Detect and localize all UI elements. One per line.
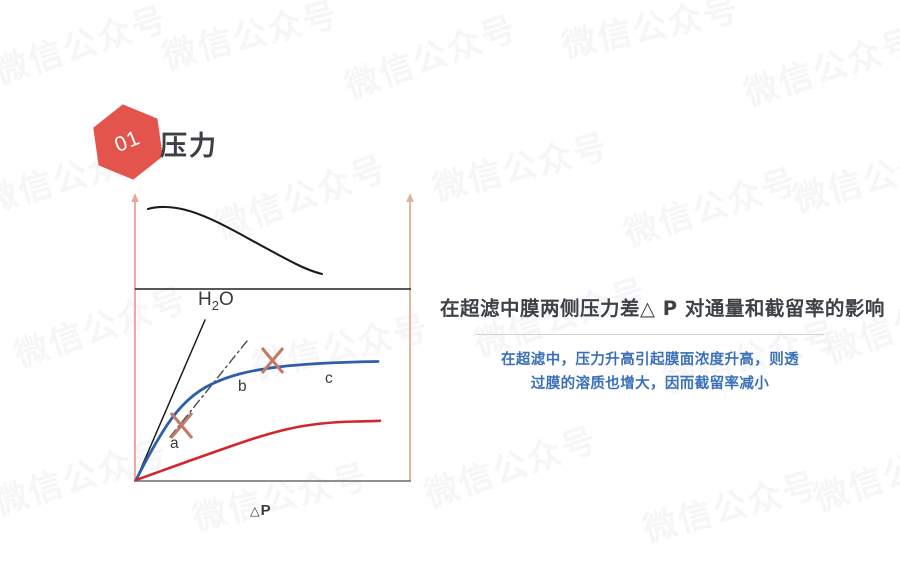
label-b: b: [238, 378, 247, 395]
label-c: c: [325, 370, 333, 387]
dashed-tangent-line: [170, 341, 247, 437]
pressure-flux-chart: H2O a b c △P: [110, 185, 440, 530]
watermark-glyph: 微信公众号: [617, 153, 803, 255]
cross-mark-b-c: [262, 348, 283, 373]
watermark-glyph: 微信公众号: [157, 0, 344, 78]
watermark-glyph: 微信公众号: [637, 458, 824, 552]
watermark-glyph: 微信公众号: [807, 418, 900, 520]
x-axis-label: △P: [250, 502, 272, 519]
right-axis: [406, 193, 414, 481]
watermark-glyph: 微信公众号: [737, 13, 900, 115]
section-title: 压力: [160, 124, 218, 163]
label-a: a: [170, 435, 179, 452]
chart-svg: H2O a b c △P: [110, 185, 440, 530]
water-flux-line: [136, 320, 205, 480]
heading-divider: [476, 334, 824, 335]
watermark-glyph: 微信公众号: [417, 412, 603, 517]
watermark-glyph: 微信公众号: [337, 1, 523, 109]
left-axis: [131, 193, 139, 481]
label-h2o: H2O: [198, 289, 234, 313]
hexagon-badge: 01: [87, 99, 169, 184]
section-badge-group: 01 压力: [92, 104, 164, 180]
badge-number: 01: [112, 126, 145, 158]
sub-heading-line-2: 过膜的溶质也增大，因而截留率减小: [440, 373, 860, 397]
watermark-glyph: 微信公众号: [0, 0, 173, 94]
rejection-curve: [148, 207, 322, 274]
watermark-glyph: 微信公众号: [427, 119, 614, 210]
sub-heading: 在超滤中，压力升高引起膜面浓度升高，则透 过膜的溶质也增大，因而截留率减小: [440, 349, 860, 397]
description-block: 在超滤中膜两侧压力差△ P 对通量和截留率的影响 在超滤中，压力升高引起膜面浓度…: [440, 296, 860, 397]
sub-heading-line-1: 在超滤中，压力升高引起膜面浓度升高，则透: [440, 349, 860, 373]
watermark-glyph: 微信公众号: [557, 0, 743, 67]
main-heading: 在超滤中膜两侧压力差△ P 对通量和截留率的影响: [440, 296, 860, 322]
watermark-glyph: 微信公众号: [787, 128, 900, 222]
